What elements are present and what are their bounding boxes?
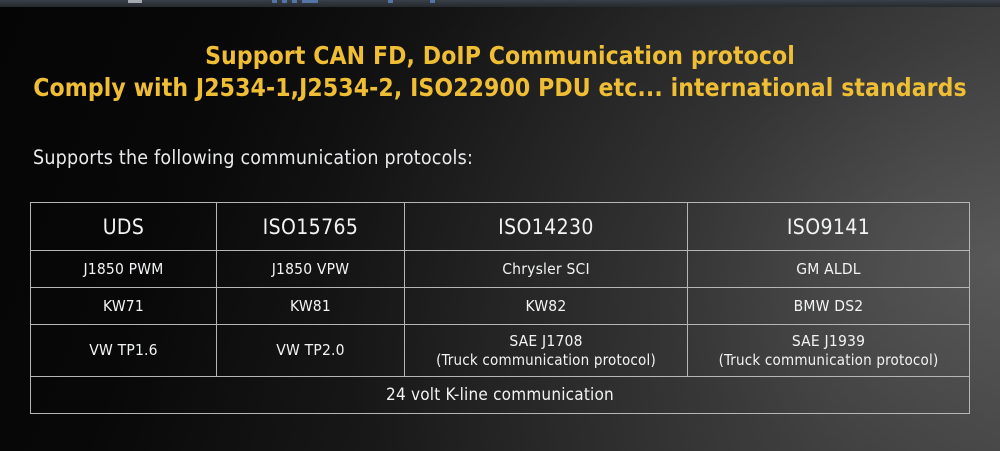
- table-row: J1850 PWM J1850 VPW Chrysler SCI GM ALDL: [31, 251, 970, 288]
- table-row: VW TP1.6 VW TP2.0 SAE J1708 (Truck commu…: [31, 325, 970, 377]
- slide-canvas: Support CAN FD, DoIP Communication proto…: [0, 0, 1000, 451]
- top-cropped-strip: [0, 0, 1000, 7]
- table-cell: J1850 PWM: [31, 251, 217, 288]
- table-cell: Chrysler SCI: [405, 251, 688, 288]
- cell-main-text: KW82: [405, 297, 687, 316]
- table-cell: SAE J1708 (Truck communication protocol): [405, 325, 688, 377]
- table-cell: KW81: [217, 288, 405, 325]
- table-cell: KW82: [405, 288, 688, 325]
- cell-main-text: GM ALDL: [688, 260, 969, 279]
- cell-sub-text: (Truck communication protocol): [688, 351, 969, 370]
- cell-main-text: BMW DS2: [688, 297, 969, 316]
- table-header-cell-uds: UDS: [31, 203, 217, 251]
- strip-blip: [302, 0, 318, 3]
- table-cell: VW TP2.0: [217, 325, 405, 377]
- table-header-row: UDS ISO15765 ISO14230 ISO9141: [31, 203, 970, 251]
- strip-blip: [388, 0, 393, 3]
- table-cell: VW TP1.6: [31, 325, 217, 377]
- headline-block: Support CAN FD, DoIP Communication proto…: [0, 40, 1000, 104]
- cell-main-text: Chrysler SCI: [405, 260, 687, 279]
- cell-main-text: J1850 PWM: [31, 260, 216, 279]
- table-cell: SAE J1939 (Truck communication protocol): [688, 325, 970, 377]
- table-cell: J1850 VPW: [217, 251, 405, 288]
- table-cell: KW71: [31, 288, 217, 325]
- strip-blip: [430, 0, 435, 3]
- cell-main-text: SAE J1708: [405, 332, 687, 351]
- cell-main-text: KW81: [217, 297, 404, 316]
- strip-blip: [292, 0, 297, 3]
- table-header-cell-iso15765: ISO15765: [217, 203, 405, 251]
- cell-sub-text: (Truck communication protocol): [405, 351, 687, 370]
- table-cell: GM ALDL: [688, 251, 970, 288]
- table-footer-cell: 24 volt K-line communication: [31, 377, 970, 414]
- strip-blip: [272, 0, 277, 3]
- headline-line-1: Support CAN FD, DoIP Communication proto…: [0, 40, 1000, 71]
- table-header-cell-iso9141: ISO9141: [688, 203, 970, 251]
- strip-blip: [128, 0, 142, 3]
- table-row: KW71 KW81 KW82 BMW DS2: [31, 288, 970, 325]
- cell-main-text: KW71: [31, 297, 216, 316]
- strip-blip: [282, 0, 287, 3]
- subheading-text: Supports the following communication pro…: [33, 146, 473, 169]
- protocol-table: UDS ISO15765 ISO14230 ISO9141 J1850 PWM …: [30, 202, 970, 414]
- cell-main-text: J1850 VPW: [217, 260, 404, 279]
- table-header-cell-iso14230: ISO14230: [405, 203, 688, 251]
- table-footer-row: 24 volt K-line communication: [31, 377, 970, 414]
- cell-main-text: VW TP2.0: [217, 341, 404, 360]
- cell-main-text: VW TP1.6: [31, 341, 216, 360]
- headline-line-2: Comply with J2534-1,J2534-2, ISO22900 PD…: [0, 71, 1000, 104]
- table-cell: BMW DS2: [688, 288, 970, 325]
- cell-main-text: SAE J1939: [688, 332, 969, 351]
